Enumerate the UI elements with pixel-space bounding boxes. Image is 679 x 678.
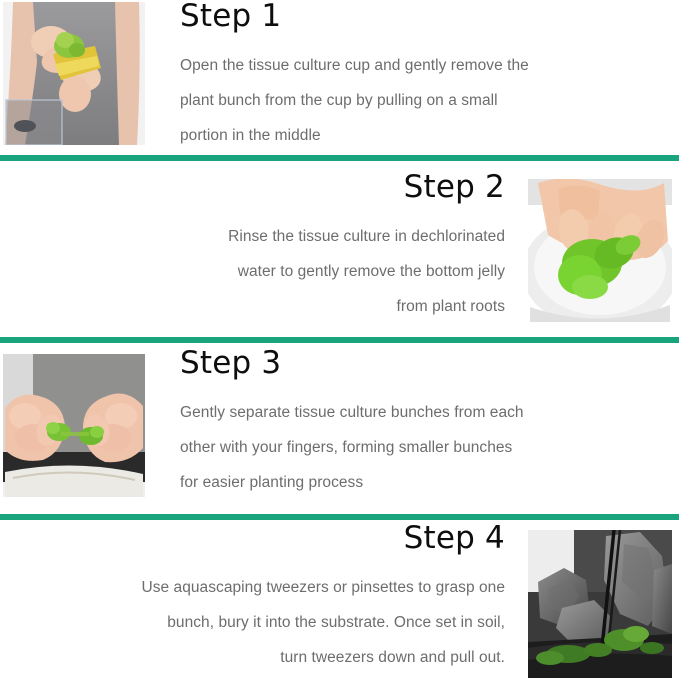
step-3-body-line-3: for easier planting process bbox=[180, 465, 650, 500]
step-1-body: Open the tissue culture cup and gently r… bbox=[180, 48, 650, 153]
step-2-body: Rinse the tissue culture in dechlorinate… bbox=[30, 219, 505, 324]
step-2-body-line-3: from plant roots bbox=[30, 289, 505, 324]
step-1-photo-illustration bbox=[3, 2, 145, 145]
step-2-photo-illustration bbox=[528, 179, 672, 322]
step-3-title: Step 3 bbox=[180, 345, 650, 381]
step-2-body-line-2: water to gently remove the bottom jelly bbox=[30, 254, 505, 289]
step-2-text-column: Step 2 Rinse the tissue culture in dechl… bbox=[30, 169, 505, 324]
step-1-title: Step 1 bbox=[180, 0, 650, 34]
step-3-image bbox=[3, 354, 145, 497]
step-4-body-line-3: turn tweezers down and pull out. bbox=[30, 640, 505, 675]
step-4-body: Use aquascaping tweezers or pinsettes to… bbox=[30, 570, 505, 675]
step-4-body-line-1: Use aquascaping tweezers or pinsettes to… bbox=[30, 570, 505, 605]
step-card-1: Step 1 Open the tissue culture cup and g… bbox=[0, 0, 679, 155]
step-4-image bbox=[528, 530, 672, 678]
step-3-body: Gently separate tissue culture bunches f… bbox=[180, 395, 650, 500]
step-3-body-line-2: other with your fingers, forming smaller… bbox=[180, 430, 650, 465]
step-4-title: Step 4 bbox=[30, 520, 505, 556]
step-3-body-line-1: Gently separate tissue culture bunches f… bbox=[180, 395, 650, 430]
step-1-body-line-2: plant bunch from the cup by pulling on a… bbox=[180, 83, 650, 118]
step-2-title: Step 2 bbox=[30, 169, 505, 205]
step-1-body-line-3: portion in the middle bbox=[180, 118, 650, 153]
step-3-photo-illustration bbox=[3, 354, 145, 497]
step-card-4: Step 4 Use aquascaping tweezers or pinse… bbox=[0, 520, 679, 678]
step-2-image bbox=[528, 179, 672, 322]
step-card-3: Step 3 Gently separate tissue culture bu… bbox=[0, 343, 679, 514]
step-1-image bbox=[3, 2, 145, 145]
steps-infographic: Step 1 Open the tissue culture cup and g… bbox=[0, 0, 679, 678]
step-1-body-line-1: Open the tissue culture cup and gently r… bbox=[180, 48, 650, 83]
step-1-text-column: Step 1 Open the tissue culture cup and g… bbox=[180, 0, 650, 153]
step-card-2: Step 2 Rinse the tissue culture in dechl… bbox=[0, 161, 679, 337]
step-4-text-column: Step 4 Use aquascaping tweezers or pinse… bbox=[30, 520, 505, 675]
step-4-photo-illustration bbox=[528, 530, 672, 678]
step-4-body-line-2: bunch, bury it into the substrate. Once … bbox=[30, 605, 505, 640]
step-2-body-line-1: Rinse the tissue culture in dechlorinate… bbox=[30, 219, 505, 254]
step-3-text-column: Step 3 Gently separate tissue culture bu… bbox=[180, 345, 650, 500]
